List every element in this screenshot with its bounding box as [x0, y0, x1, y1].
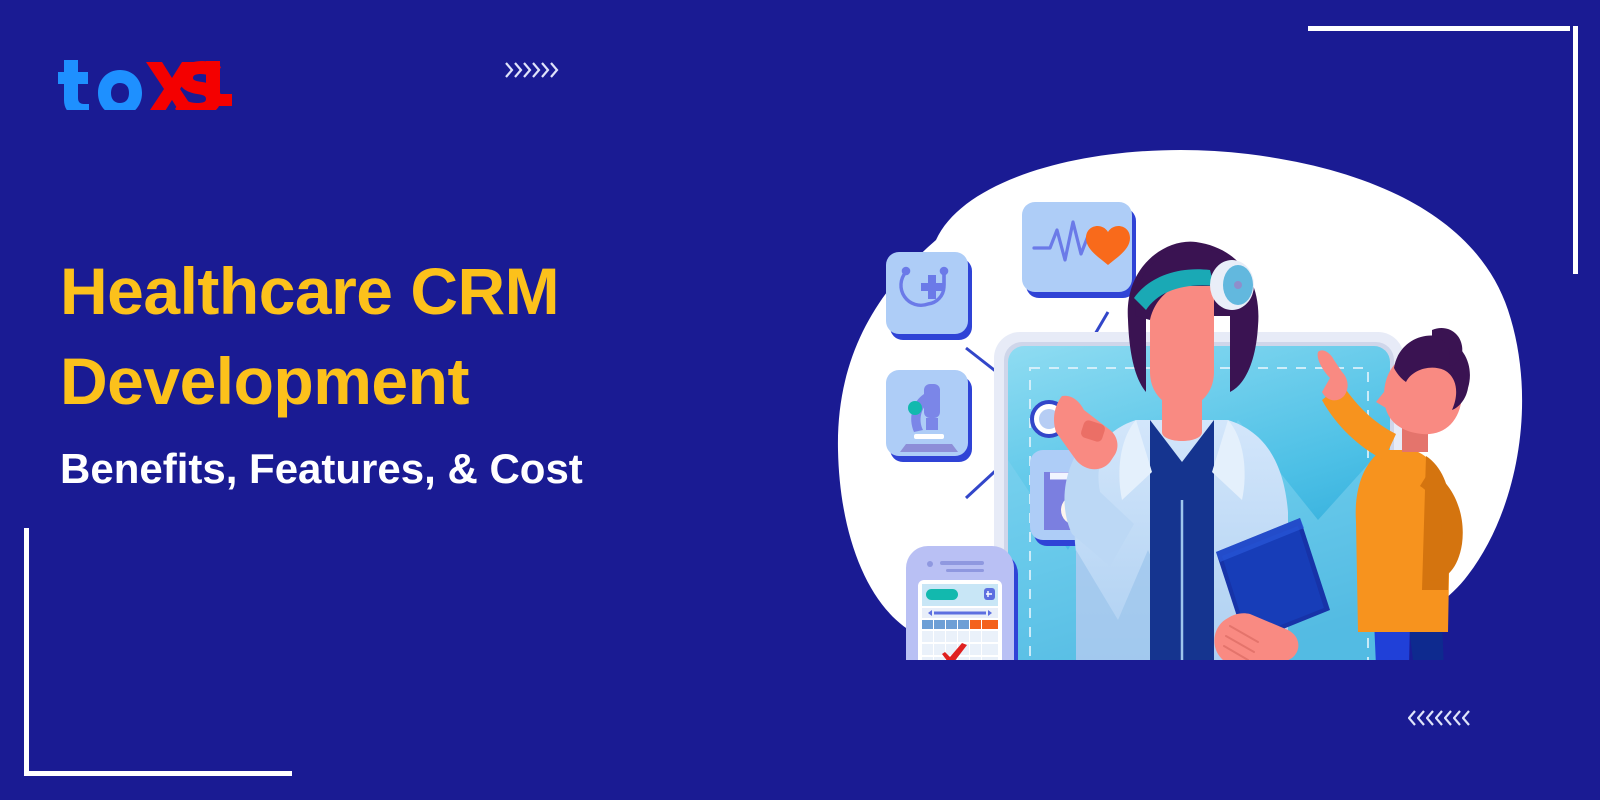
corner-bracket-bottom-left	[24, 528, 292, 776]
microscope-card	[886, 370, 972, 462]
logo-xsl-glyphs	[144, 61, 232, 110]
chevron-left-icon	[1426, 710, 1435, 726]
chevron-left-icon	[1435, 710, 1444, 726]
chevron-right-ornament	[505, 62, 559, 78]
chevron-left-icon	[1417, 710, 1426, 726]
head-mirror-icon	[1210, 260, 1254, 310]
doctor-face	[1150, 286, 1214, 408]
hero-banner: Healthcare CRM Development Benefits, Fea…	[0, 0, 1600, 800]
bracket-vertical-bar	[1573, 26, 1578, 274]
page-title-line-1: Healthcare CRM	[60, 258, 820, 324]
chevron-left-icon	[1453, 710, 1462, 726]
logo-to-glyphs	[58, 60, 142, 110]
bracket-horizontal-bar	[24, 771, 292, 776]
smartphone-calendar	[906, 546, 1018, 660]
phone-speaker-2	[946, 569, 984, 572]
chevron-right-icon	[505, 62, 514, 78]
chevron-left-icon	[1444, 710, 1453, 726]
phone-camera	[927, 561, 933, 567]
microscope-sample-dot	[908, 401, 922, 415]
chevron-right-icon	[550, 62, 559, 78]
chevron-right-icon	[541, 62, 550, 78]
bracket-horizontal-bar	[1308, 26, 1570, 31]
calendar-title-pill	[926, 589, 958, 600]
chevron-right-icon	[523, 62, 532, 78]
headline-block: Healthcare CRM Development Benefits, Fea…	[60, 258, 820, 490]
hero-illustration	[818, 120, 1558, 660]
chevron-right-icon	[514, 62, 523, 78]
stethoscope-card	[886, 252, 972, 340]
page-title-line-2: Development	[60, 348, 820, 414]
toxsl-logo[interactable]	[58, 48, 238, 110]
bracket-vertical-bar	[24, 528, 29, 774]
page-subtitle: Benefits, Features, & Cost	[60, 448, 820, 490]
phone-speaker	[940, 561, 984, 565]
chevron-left-icon	[1408, 710, 1417, 726]
chevron-left-icon	[1462, 710, 1471, 726]
chevron-right-icon	[532, 62, 541, 78]
heartbeat-card	[1022, 202, 1136, 298]
chevron-left-ornament	[1408, 710, 1471, 726]
